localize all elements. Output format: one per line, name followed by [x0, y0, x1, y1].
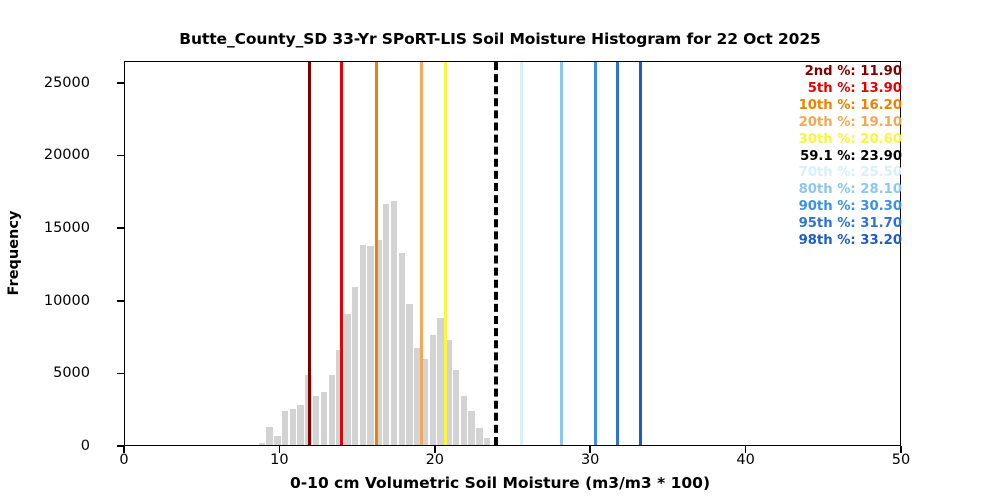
legend-entry: 5th %: 13.90 [799, 81, 902, 98]
histogram-bar [313, 396, 319, 445]
percentile-line [594, 62, 597, 445]
legend-entry: 90th %: 30.30 [799, 199, 902, 216]
percentile-line [639, 62, 642, 445]
histogram-bar [468, 411, 474, 445]
histogram-bar [274, 436, 280, 445]
legend-entry: 2nd %: 11.90 [799, 64, 902, 81]
legend-entry: 20th %: 19.10 [799, 115, 902, 132]
histogram-bar [367, 246, 373, 445]
y-tick-label: 15000 [0, 220, 90, 236]
x-tick-label: 10 [239, 452, 319, 468]
histogram-bar [453, 370, 459, 445]
percentile-line [375, 62, 378, 445]
y-tick-label: 20000 [0, 147, 90, 163]
histogram-bar [352, 287, 358, 445]
percentile-line [616, 62, 619, 445]
histogram-bar [344, 314, 350, 445]
percentile-line [520, 62, 523, 445]
x-tick-label: 20 [395, 452, 475, 468]
histogram-bar [290, 409, 296, 445]
y-tick-mark [117, 373, 124, 375]
percentile-line [340, 62, 343, 445]
y-tick-label: 10000 [0, 293, 90, 309]
y-tick-label: 25000 [0, 75, 90, 91]
x-tick-label: 30 [550, 452, 630, 468]
percentile-line [420, 62, 423, 445]
histogram-bar [399, 253, 405, 445]
x-tick-label: 0 [84, 452, 164, 468]
chart-figure: Butte_County_SD 33-Yr SPoRT-LIS Soil Moi… [0, 0, 1000, 500]
chart-title: Butte_County_SD 33-Yr SPoRT-LIS Soil Moi… [0, 30, 1000, 48]
legend-entry: 59.1 %: 23.90 [799, 149, 902, 166]
x-tick-label: 40 [706, 452, 786, 468]
legend-entry: 30th %: 20.60 [799, 132, 902, 149]
legend-entry: 95th %: 31.70 [799, 216, 902, 233]
y-tick-label: 0 [0, 438, 90, 454]
histogram-bar [461, 396, 467, 445]
legend-entry: 10th %: 16.20 [799, 98, 902, 115]
y-tick-mark [117, 227, 124, 229]
y-tick-mark [117, 82, 124, 84]
histogram-bar [282, 411, 288, 445]
y-tick-mark [117, 300, 124, 302]
histogram-bar [297, 405, 303, 445]
histogram-bar [329, 375, 335, 445]
plot-area [124, 61, 901, 446]
percentile-line [444, 62, 447, 445]
x-tick-label: 50 [861, 452, 941, 468]
histogram-bar [430, 335, 436, 445]
histogram-bar [391, 201, 397, 445]
percentile-line [560, 62, 563, 445]
histogram-bar [259, 443, 265, 445]
legend-entry: 80th %: 28.10 [799, 182, 902, 199]
percentile-line [494, 62, 498, 445]
histogram-bar [484, 438, 490, 445]
histogram-bar [360, 245, 366, 445]
percentile-line [308, 62, 311, 445]
histogram-bar [476, 428, 482, 445]
histogram-bar [406, 304, 412, 445]
y-tick-mark [117, 155, 124, 157]
histogram-bar [266, 427, 272, 445]
legend-entry: 98th %: 33.20 [799, 233, 902, 250]
histogram-bar [321, 392, 327, 445]
x-axis-label: 0-10 cm Volumetric Soil Moisture (m3/m3 … [0, 474, 1000, 492]
histogram-bar [383, 204, 389, 445]
y-tick-label: 5000 [0, 365, 90, 381]
legend-entry: 70th %: 25.50 [799, 165, 902, 182]
percentile-legend: 2nd %: 11.905th %: 13.9010th %: 16.2020t… [799, 64, 902, 250]
